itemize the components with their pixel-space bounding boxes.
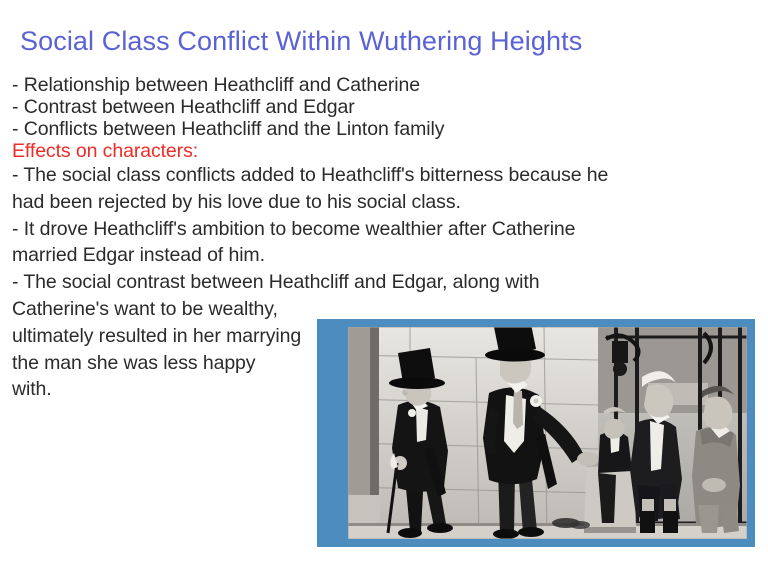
slide-canvas: Social Class Conflict Within Wuthering H…	[0, 0, 768, 561]
list-item: - The social contrast between Heathcliff…	[12, 269, 756, 296]
bullet-list-topics: - Relationship between Heathcliff and Ca…	[12, 74, 756, 162]
page-title: Social Class Conflict Within Wuthering H…	[20, 24, 582, 58]
toffs-and-toughs-photograph	[348, 327, 747, 539]
list-item: - Conflicts between Heathcliff and the L…	[12, 118, 756, 140]
list-item: had been rejected by his love due to his…	[12, 189, 756, 216]
list-item: - Relationship between Heathcliff and Ca…	[12, 74, 756, 96]
list-item: - It drove Heathcliff's ambition to beco…	[12, 216, 756, 243]
list-item: - Contrast between Heathcliff and Edgar	[12, 96, 756, 118]
photo-frame	[317, 319, 755, 547]
section-heading: Effects on characters:	[12, 140, 756, 162]
list-item: married Edgar instead of him.	[12, 242, 756, 269]
list-item: - The social class conflicts added to He…	[12, 162, 756, 189]
